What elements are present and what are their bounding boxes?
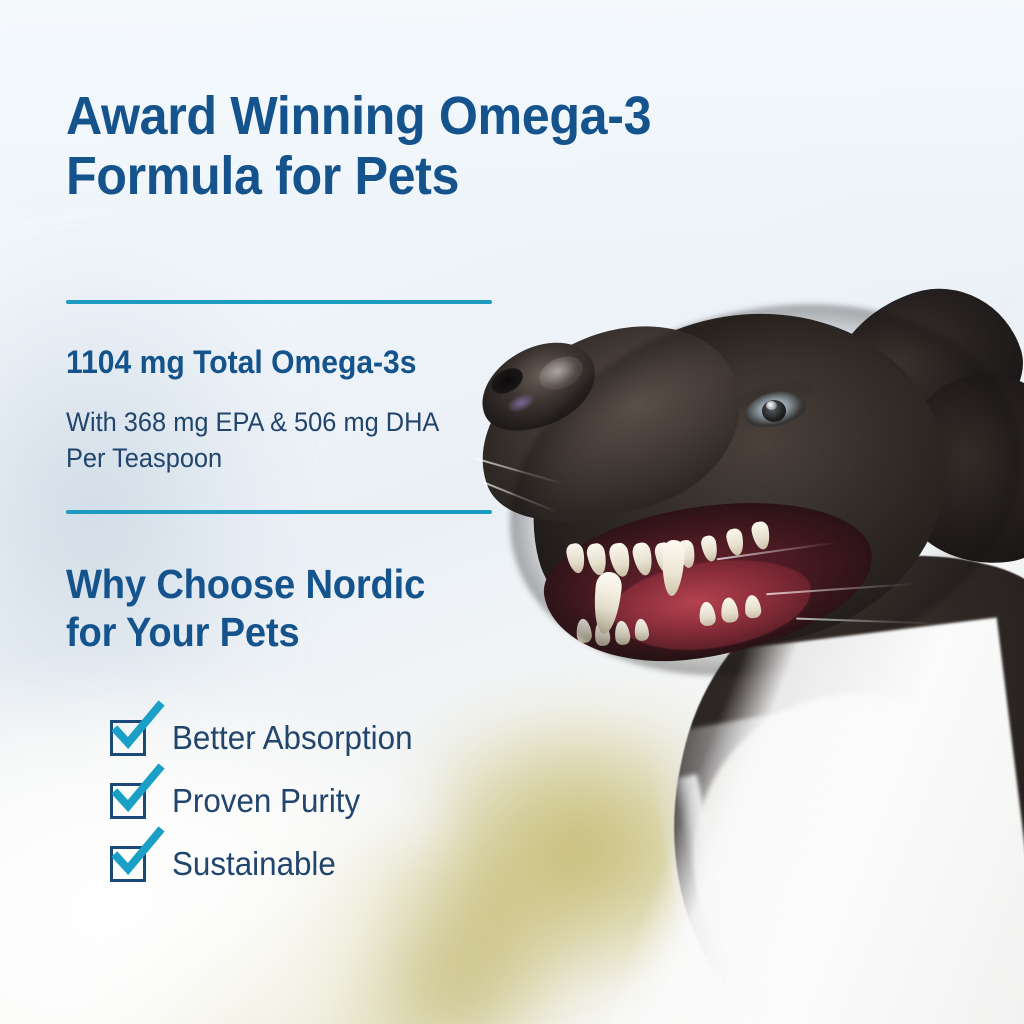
why-choose-heading: Why Choose Nordic for Your Pets [66, 560, 550, 657]
dosage-detail-line-2: Per Teaspoon [66, 441, 555, 477]
checkbox-checked-icon [109, 704, 165, 756]
dosage-headline: 1104 mg Total Omega-3s [66, 345, 555, 380]
infographic-canvas: Award Winning Omega-3 Formula for Pets 1… [0, 0, 1024, 1024]
headline-line-2: Formula for Pets [66, 146, 717, 206]
why-choose-line-1: Why Choose Nordic [66, 560, 550, 608]
benefit-label: Better Absorption [172, 714, 412, 762]
benefit-item: Proven Purity [110, 775, 530, 838]
checkbox-checked-icon [109, 767, 165, 819]
benefit-item: Better Absorption [110, 712, 530, 775]
why-choose-line-2: for Your Pets [66, 608, 550, 656]
benefits-checklist: Better Absorption Proven Purity [110, 712, 530, 901]
dosage-detail: With 368 mg EPA & 506 mg DHA Per Teaspoo… [66, 405, 555, 476]
checkbox-checked-icon [109, 830, 165, 882]
divider-below-dosage [66, 510, 492, 514]
benefit-item: Sustainable [110, 838, 530, 901]
divider-above-dosage [66, 300, 492, 304]
page-title: Award Winning Omega-3 Formula for Pets [66, 86, 717, 207]
benefit-label: Sustainable [172, 840, 336, 888]
headline-line-1: Award Winning Omega-3 [66, 86, 651, 146]
text-overlay: Award Winning Omega-3 Formula for Pets 1… [0, 0, 1024, 1024]
benefit-label: Proven Purity [172, 777, 360, 825]
dosage-detail-line-1: With 368 mg EPA & 506 mg DHA [66, 405, 555, 441]
